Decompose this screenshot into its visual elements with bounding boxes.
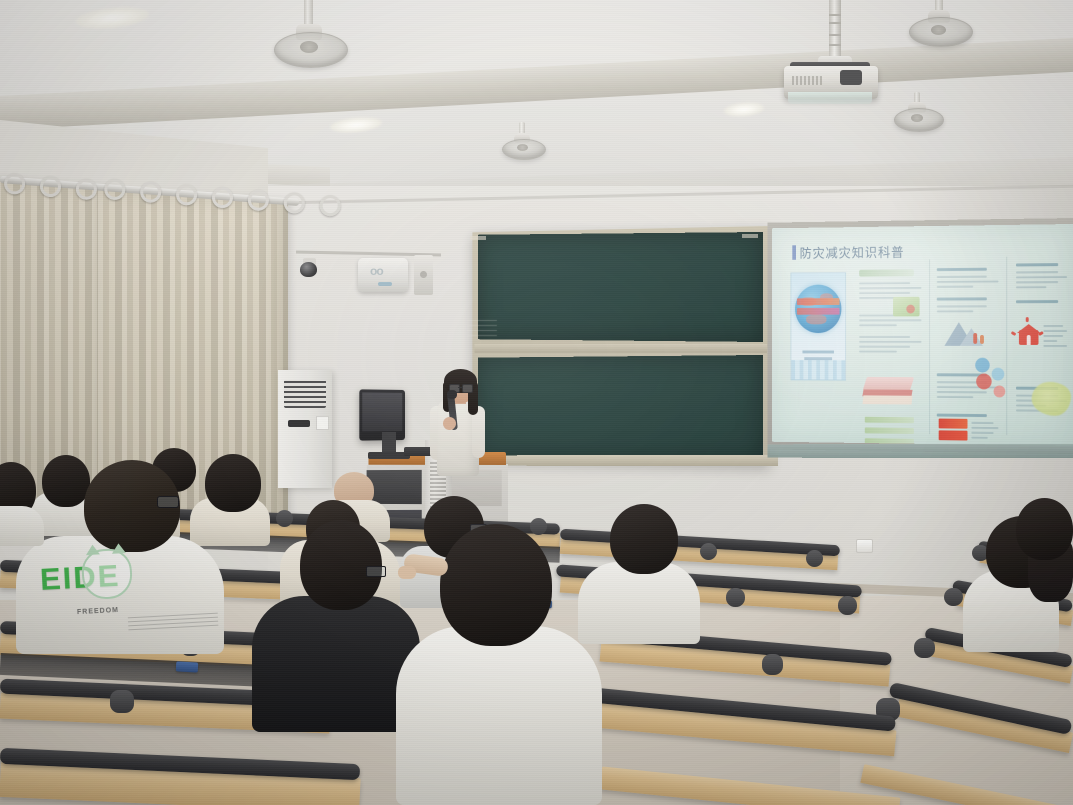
bench-bar-cap [110, 690, 134, 713]
slide-divider [1006, 257, 1007, 435]
official-bulletin-red-block [939, 419, 968, 443]
poster-subtitle-1 [802, 350, 834, 353]
slide-content: 防灾减灾知识科普 [779, 230, 1065, 440]
wall-bracket [414, 255, 433, 295]
projector-lens-icon [840, 70, 862, 85]
security-camera-icon [300, 262, 317, 277]
student-edge-left-torso [0, 506, 44, 546]
blackboard-upper-panel[interactable] [478, 232, 763, 342]
ac-label [316, 416, 329, 430]
blackboard-eraser[interactable] [176, 661, 198, 672]
air-conditioner [278, 370, 332, 488]
bench-bar-cap [838, 596, 857, 615]
speaker-box: oo [358, 258, 408, 292]
student-right-row-head [610, 504, 678, 574]
column-header-bar [859, 269, 914, 276]
bench-bar-cap [276, 510, 293, 527]
blackboard-lower-panel[interactable] [478, 355, 763, 460]
student-hand [398, 566, 416, 579]
slide-column-1 [859, 269, 921, 352]
geological-strata-diagram [863, 375, 914, 409]
bench-bar-cap [944, 588, 963, 606]
student-center-front-head [440, 524, 552, 646]
ac-display-panel[interactable] [288, 420, 310, 427]
power-outlet-icon[interactable] [856, 539, 873, 553]
poster-skyline-graphic [791, 360, 845, 380]
bench-bar-cap [530, 518, 547, 535]
poster-cover-image [790, 272, 846, 381]
slide-title-accent-bar [792, 245, 796, 260]
screen-lower-shadow [768, 444, 1073, 458]
circle-bubbles [975, 356, 1008, 404]
bulletin-text-lines [971, 419, 998, 439]
bench-bar-cap [700, 543, 717, 560]
microphone-head [447, 390, 457, 399]
bench-bar-cap [914, 638, 935, 658]
projector-vent [792, 76, 822, 85]
student-right-row-torso [578, 562, 700, 644]
ac-vent-louvers [284, 380, 326, 408]
classroom-photo: oo 防灾减灾知识科普 [0, 0, 1073, 805]
blackboard-divider [475, 344, 767, 353]
student-back-left-head [42, 455, 90, 507]
bench-bar-cap [762, 654, 783, 675]
slide-title: 防灾减灾知识科普 [800, 242, 905, 262]
projector-light-glow [788, 92, 872, 104]
blackboard-chalk-ledge [470, 455, 778, 466]
bench-bar-cap [726, 588, 745, 607]
blackboard-clip [470, 236, 486, 240]
bench-bar-cap [806, 550, 823, 567]
house-alert-icon [1016, 322, 1041, 346]
poster-headline-1 [797, 298, 840, 305]
green-label-bars [865, 412, 914, 445]
glasses-icon [366, 566, 386, 577]
student-center-front-torso [396, 626, 602, 805]
projector-mount-pole [829, 0, 841, 62]
poster-headline-2 [797, 308, 840, 315]
projection-screen: 防灾减灾知识科普 [772, 224, 1073, 446]
chalk-writing [467, 318, 497, 340]
podium-cabinet-upper[interactable] [367, 470, 422, 504]
student-black-shirt-torso [252, 596, 420, 732]
student-right-far-head [1016, 498, 1073, 560]
slide-column-2 [937, 265, 999, 418]
mountain-illustration [944, 316, 990, 346]
student-black-shirt-head [300, 520, 382, 610]
green-landscape-thumb [893, 297, 920, 317]
column3-text-block [1043, 322, 1067, 347]
slide-column-3 [1016, 260, 1067, 412]
glasses-icon [157, 496, 179, 508]
student-back-3-head [205, 454, 261, 512]
slide-divider [929, 259, 930, 434]
presenter-hand [443, 417, 456, 430]
blackboard-clip [742, 234, 758, 238]
